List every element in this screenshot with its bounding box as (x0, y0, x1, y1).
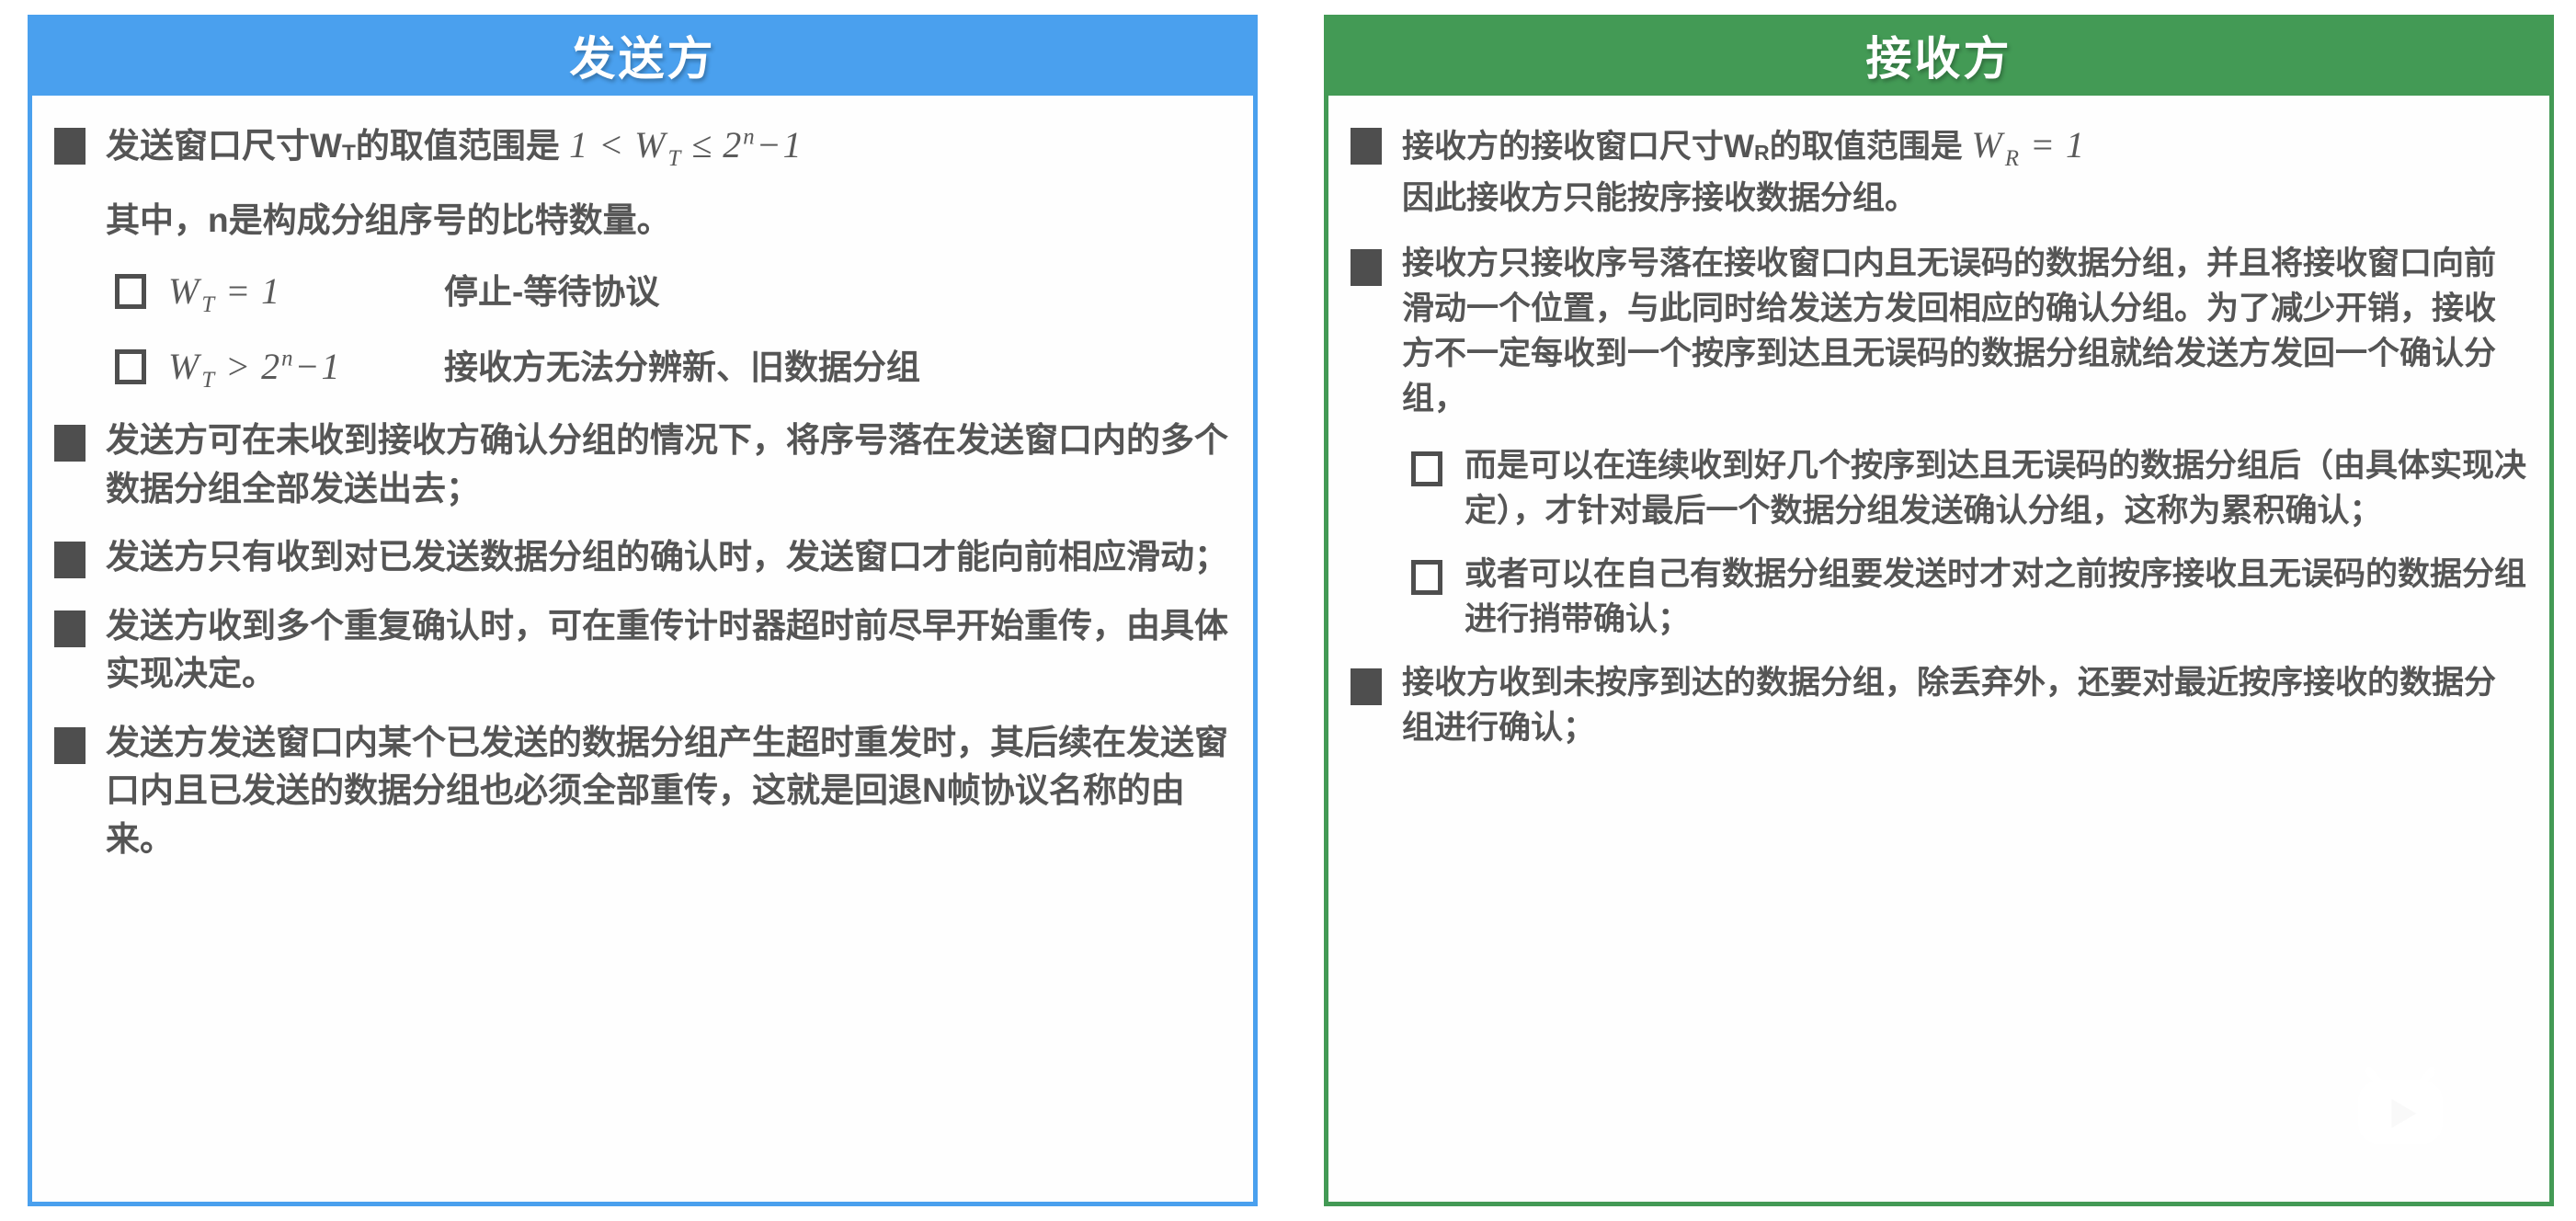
receiver-panel-title: 接收方 (1866, 22, 2012, 88)
list-item-content: 接收方的接收窗口尺寸WR的取值范围是 WR=1 因此接收方只能按序接收数据分组。 (1402, 120, 2527, 221)
filled-square-bullet-icon (54, 727, 85, 764)
list-item-sub: 而是可以在连续收到好几个按序到达且无误码的数据分组后（由具体实现决定），才针对最… (1411, 443, 2527, 533)
math-greater-than: > (216, 346, 261, 387)
sender-panel: 发送方 发送窗口尺寸WT的取值范围是 1<WT≤2n−1 其中，n是构成分组序号… (28, 15, 1258, 1206)
sender-panel-header: 发送方 (28, 15, 1258, 96)
list-item-content: 接收方只接收序号落在接收窗口内且无误码的数据分组，并且将接收窗口向前滑动一个位置… (1402, 241, 2527, 421)
math-w: W (168, 346, 200, 387)
math-w: W (1971, 124, 2003, 165)
w-subscript-r: R (1754, 141, 1770, 165)
list-item-content: 接收方收到未按序到达的数据分组，除丢弃外，还要对最近按序接收的数据分组进行确认； (1402, 660, 2527, 750)
list-item-sub: WT>2n−1 接收方无法分辨新、旧数据分组 (115, 341, 1231, 396)
formula-label: 停止-等待协议 (444, 268, 659, 317)
list-item-secondary-line: 其中，n是构成分组序号的比特数量。 (106, 197, 1231, 245)
list-item-content: WT=1 停止-等待协议 (168, 266, 1231, 321)
list-item: 接收方的接收窗口尺寸WR的取值范围是 WR=1 因此接收方只能按序接收数据分组。 (1351, 120, 2527, 221)
w-subscript-t: T (342, 141, 356, 165)
math-minus-one: −1 (757, 124, 804, 165)
list-item: 接收方收到未按序到达的数据分组，除丢弃外，还要对最近按序接收的数据分组进行确认； (1351, 660, 2527, 750)
list-item: 发送方可在未收到接收方确认分组的情况下，将序号落在发送窗口内的多个数据分组全部发… (54, 417, 1231, 513)
math-sub-t: T (200, 292, 216, 317)
filled-square-bullet-icon (54, 610, 85, 647)
filled-square-bullet-icon (54, 542, 85, 578)
math-one: 1 (261, 270, 281, 312)
formula-label: 接收方无法分辨新、旧数据分组 (444, 344, 920, 393)
hollow-square-bullet-icon (115, 349, 146, 384)
sender-panel-body: 发送窗口尺寸WT的取值范围是 1<WT≤2n−1 其中，n是构成分组序号的比特数… (28, 96, 1258, 1206)
list-item: 接收方只接收序号落在接收窗口内且无误码的数据分组，并且将接收窗口向前滑动一个位置… (1351, 241, 2527, 421)
list-item-content: 发送方收到多个重复确认时，可在重传计时器超时前尽早开始重传，由具体实现决定。 (106, 602, 1231, 699)
nested-list: 而是可以在连续收到好几个按序到达且无误码的数据分组后（由具体实现决定），才针对最… (1351, 443, 2527, 642)
list-item-content: 发送方可在未收到接收方确认分组的情况下，将序号落在发送窗口内的多个数据分组全部发… (106, 417, 1231, 513)
list-item-content: 发送窗口尺寸WT的取值范围是 1<WT≤2n−1 其中，n是构成分组序号的比特数… (106, 120, 1231, 245)
sender-panel-title: 发送方 (570, 22, 716, 88)
list-item: 发送方只有收到对已发送数据分组的确认时，发送窗口才能向前相应滑动； (54, 533, 1231, 582)
math-sub-t: T (200, 368, 216, 393)
list-item: 发送方收到多个重复确认时，可在重传计时器超时前尽早开始重传，由具体实现决定。 (54, 602, 1231, 699)
formula-wt-equals-one: WT=1 (168, 266, 444, 321)
math-w: W (634, 124, 667, 165)
math-sup-n: n (743, 125, 756, 150)
math-less-than: < (589, 124, 634, 165)
math-w: W (168, 270, 200, 312)
list-item-content: 发送方发送窗口内某个已发送的数据分组产生超时重发时，其后续在发送窗口内且已发送的… (106, 719, 1231, 864)
text-after: 的取值范围是 (356, 127, 560, 165)
hollow-square-bullet-icon (1411, 451, 1442, 486)
math-sup-n: n (281, 347, 294, 371)
filled-square-bullet-icon (54, 425, 85, 462)
text-before: 接收方的接收窗口尺寸W (1402, 129, 1754, 165)
math-sub-t: T (667, 146, 682, 171)
hollow-square-bullet-icon (115, 274, 146, 309)
formula-wt-greater: WT>2n−1 (168, 341, 444, 396)
list-item-secondary-line: 因此接收方只能按序接收数据分组。 (1402, 176, 2527, 221)
math-one: 1 (569, 124, 589, 165)
list-item-line: 发送窗口尺寸WT的取值范围是 1<WT≤2n−1 (106, 120, 1231, 175)
math-two: 2 (261, 346, 281, 387)
slide-root: 发送方 发送窗口尺寸WT的取值范围是 1<WT≤2n−1 其中，n是构成分组序号… (0, 0, 2576, 1221)
math-equals: = (216, 270, 261, 312)
list-item-content: WT>2n−1 接收方无法分辨新、旧数据分组 (168, 341, 1231, 396)
text-before: 发送窗口尺寸W (106, 127, 342, 165)
formula-wr-equals-one: WR=1 (1971, 124, 2085, 165)
list-item-content: 而是可以在连续收到好几个按序到达且无误码的数据分组后（由具体实现决定），才针对最… (1465, 443, 2527, 533)
math-two: 2 (723, 124, 743, 165)
receiver-panel: 接收方 接收方的接收窗口尺寸WR的取值范围是 WR=1 因此接收方只能按序接收数… (1324, 15, 2554, 1206)
math-one: 1 (2066, 124, 2086, 165)
filled-square-bullet-icon (1351, 668, 1382, 705)
formula-wt-range: 1<WT≤2n−1 (569, 124, 803, 165)
list-item-content: 发送方只有收到对已发送数据分组的确认时，发送窗口才能向前相应滑动； (106, 533, 1231, 582)
list-item: 发送窗口尺寸WT的取值范围是 1<WT≤2n−1 其中，n是构成分组序号的比特数… (54, 120, 1231, 245)
filled-square-bullet-icon (54, 128, 85, 165)
hollow-square-bullet-icon (1411, 560, 1442, 595)
receiver-panel-body: 接收方的接收窗口尺寸WR的取值范围是 WR=1 因此接收方只能按序接收数据分组。… (1324, 96, 2554, 1206)
filled-square-bullet-icon (1351, 249, 1382, 286)
text-after: 的取值范围是 (1770, 129, 1963, 165)
list-item: 发送方发送窗口内某个已发送的数据分组产生超时重发时，其后续在发送窗口内且已发送的… (54, 719, 1231, 864)
filled-square-bullet-icon (1351, 128, 1382, 165)
math-equals: = (2021, 124, 2066, 165)
receiver-panel-header: 接收方 (1324, 15, 2554, 96)
math-leq: ≤ (682, 124, 723, 165)
list-item-sub: 或者可以在自己有数据分组要发送时才对之前按序接收且无误码的数据分组进行捎带确认； (1411, 552, 2527, 642)
list-item-line: 接收方的接收窗口尺寸WR的取值范围是 WR=1 (1402, 120, 2527, 176)
math-minus-one: −1 (295, 346, 342, 387)
list-item-sub: WT=1 停止-等待协议 (115, 266, 1231, 321)
math-sub-r: R (2004, 146, 2021, 171)
list-item-content: 或者可以在自己有数据分组要发送时才对之前按序接收且无误码的数据分组进行捎带确认； (1465, 552, 2527, 642)
